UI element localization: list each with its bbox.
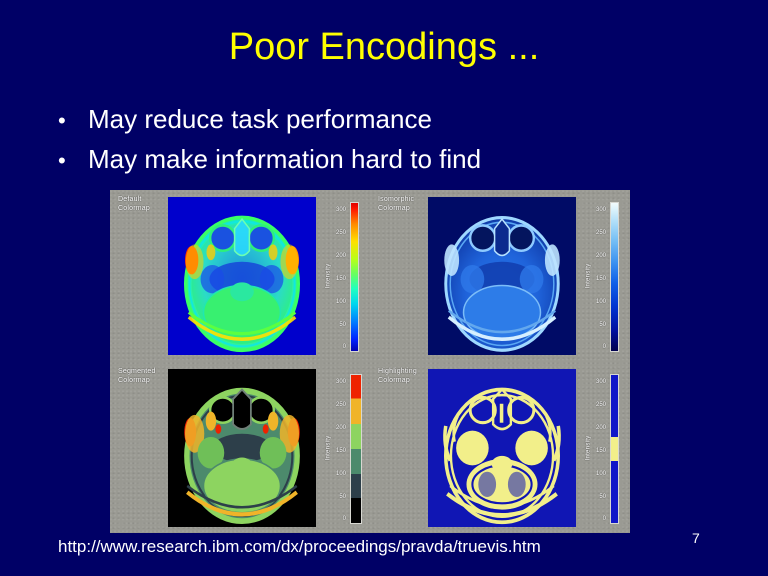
colorbar-tick: 250 [336, 402, 346, 408]
colorbar-tick: 300 [336, 379, 346, 385]
colorbar-tick: 150 [596, 448, 606, 454]
colorbar-ticks: 300 250 200 150 100 50 0 [326, 376, 346, 520]
colorbar-tick: 300 [596, 379, 606, 385]
colorbar-tick: 150 [336, 448, 346, 454]
colorbar-gradient-segmented [350, 374, 362, 524]
panel-label: Default Colormap [118, 196, 150, 213]
colorbar-tick: 200 [596, 253, 606, 259]
colorbar-tick: 50 [599, 494, 606, 500]
colorbar-tick: 100 [336, 471, 346, 477]
panel-label: Isomorphic Colormap [378, 196, 414, 213]
colormap-comparison-figure: Default Colormap [110, 190, 630, 533]
colorbar-tick: 100 [336, 299, 346, 305]
brain-mri-isomorphic-svg [428, 197, 576, 355]
colorbar-tick: 0 [603, 516, 606, 522]
list-item: • May make information hard to find [58, 140, 718, 180]
colorbar-gradient-jet [350, 202, 359, 352]
colorbar-ticks: 300 250 200 150 100 50 0 [326, 204, 346, 348]
colorbar-tick: 50 [339, 322, 346, 328]
colorbar-gradient-highlighting [610, 374, 619, 524]
brain-scan-image-highlighting [428, 369, 576, 527]
bullet-list: • May reduce task performance • May make… [58, 100, 718, 180]
colorbar-tick: 200 [336, 253, 346, 259]
colorbar-tick: 300 [596, 207, 606, 213]
colorbar-tick: 50 [339, 494, 346, 500]
colorbar-tick: 50 [599, 322, 606, 328]
slide-canvas: Poor Encodings ... • May reduce task per… [0, 0, 768, 576]
panel-segmented-colormap: Segmented Colormap [110, 362, 370, 533]
colorbar-highlighting: Intensity 300 250 200 150 100 50 0 [578, 372, 630, 524]
colorbar-tick: 0 [343, 516, 346, 522]
panel-default-colormap: Default Colormap [110, 190, 370, 361]
brain-mri-segmented-svg [168, 369, 316, 527]
panel-label: Segmented Colormap [118, 368, 156, 385]
brain-scan-image-default [168, 197, 316, 355]
colorbar-tick: 100 [596, 299, 606, 305]
panel-highlighting-colormap: Highlighting Colormap [370, 362, 630, 533]
colorbar-tick: 150 [596, 276, 606, 282]
bullet-text: May reduce task performance [88, 100, 718, 138]
footer-source-url[interactable]: http://www.research.ibm.com/dx/proceedin… [58, 537, 541, 557]
list-item: • May reduce task performance [58, 100, 718, 140]
colorbar-gradient-isomorphic [610, 202, 619, 352]
brain-mri-jet-svg [168, 197, 316, 355]
colorbar-tick: 300 [336, 207, 346, 213]
brain-scan-image-segmented [168, 369, 316, 527]
bullet-marker-icon: • [58, 102, 88, 140]
colorbar-isomorphic: Intensity 300 250 200 150 100 50 0 [578, 200, 630, 352]
colorbar-tick: 200 [336, 425, 346, 431]
colorbar-tick: 250 [596, 230, 606, 236]
page-title: Poor Encodings ... [0, 25, 768, 69]
colorbar-tick: 250 [596, 402, 606, 408]
bullet-marker-icon: • [58, 142, 88, 180]
colorbar-ticks: 300 250 200 150 100 50 0 [586, 204, 606, 348]
brain-scan-image-isomorphic [428, 197, 576, 355]
colorbar-segmented: Intensity 300 250 200 150 100 50 0 [318, 372, 370, 524]
colorbar-tick: 100 [596, 471, 606, 477]
colorbar-tick: 150 [336, 276, 346, 282]
panel-isomorphic-colormap: Isomorphic Colormap [370, 190, 630, 361]
colorbar-tick: 0 [603, 344, 606, 350]
colorbar-tick: 200 [596, 425, 606, 431]
bullet-text: May make information hard to find [88, 140, 718, 178]
colorbar-ticks: 300 250 200 150 100 50 0 [586, 376, 606, 520]
colorbar-default: Intensity 300 250 200 150 100 50 0 [318, 200, 370, 352]
colorbar-tick: 250 [336, 230, 346, 236]
colorbar-tick: 0 [343, 344, 346, 350]
brain-mri-highlighting-svg [428, 369, 576, 527]
panel-label: Highlighting Colormap [378, 368, 417, 385]
page-number: 7 [692, 530, 700, 546]
